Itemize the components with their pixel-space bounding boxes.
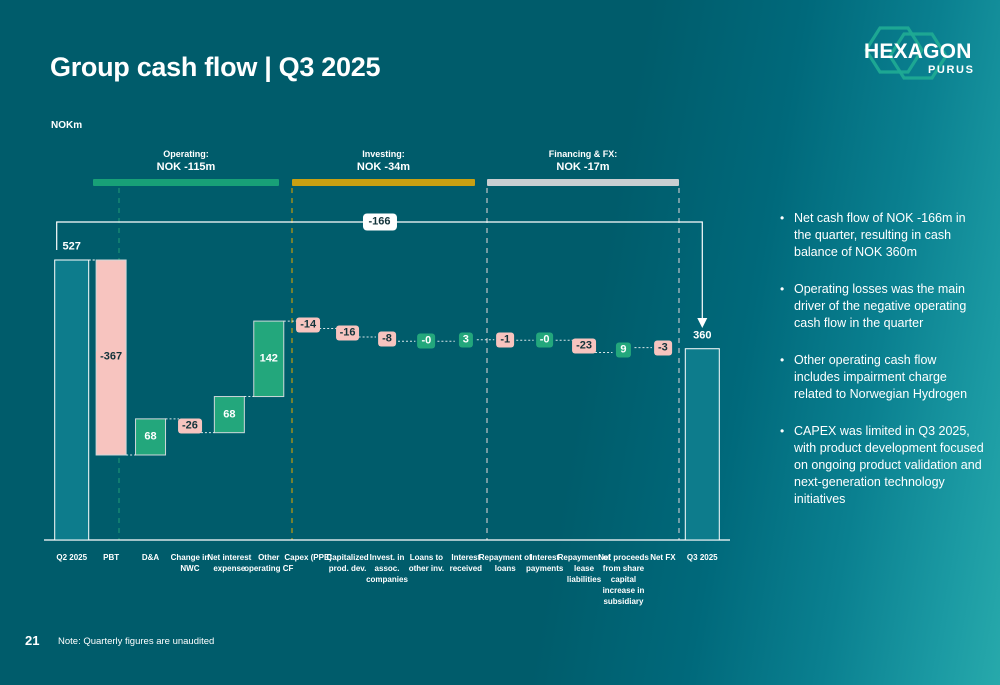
bar-value-label: -166 <box>362 214 396 231</box>
footnote: Note: Quarterly figures are unaudited <box>58 636 214 647</box>
logo-wordmark: HEXAGON <box>864 40 972 64</box>
bullet-dot-icon: • <box>780 423 794 508</box>
bar-value-label: 3 <box>459 333 473 348</box>
list-item: • Other operating cash flow includes imp… <box>780 352 985 403</box>
bullet-text: Net cash flow of NOK -166m in the quarte… <box>794 210 985 261</box>
bullet-dot-icon: • <box>780 281 794 332</box>
waterfall-chart: 527-36768-2668142-14-16-8-03-1-0-239-336… <box>0 0 760 610</box>
bar-value-label: 527 <box>59 240 85 255</box>
bar-value-label: -0 <box>418 334 436 349</box>
bar-value-label: -16 <box>336 325 360 340</box>
bullet-text: CAPEX was limited in Q3 2025, with produ… <box>794 423 985 508</box>
bar-value-label: 68 <box>219 407 239 422</box>
bar-value-label: -367 <box>96 350 126 365</box>
list-item: • Net cash flow of NOK -166m in the quar… <box>780 210 985 261</box>
bar-value-label: -8 <box>378 332 396 347</box>
bar-value-label: -0 <box>536 333 554 348</box>
bar-value-label: -26 <box>178 418 202 433</box>
bullet-text: Other operating cash flow includes impai… <box>794 352 985 403</box>
list-item: • Operating losses was the main driver o… <box>780 281 985 332</box>
bar-value-label: 360 <box>689 328 715 343</box>
bar-value-label: -1 <box>496 332 514 347</box>
slide-canvas: Group cash flow | Q3 2025 NOKm HEXAGON P… <box>0 0 1000 685</box>
bar-value-label: 9 <box>616 343 630 358</box>
bar-value-label: -23 <box>572 339 596 354</box>
hexagon-purus-logo: HEXAGON PURUS <box>842 24 982 86</box>
logo-subwordmark: PURUS <box>928 64 975 76</box>
bullet-dot-icon: • <box>780 352 794 403</box>
bar-value-label: -3 <box>654 341 672 356</box>
bar-value-label: 142 <box>256 351 282 366</box>
bar-value-label: -14 <box>296 317 320 332</box>
bullet-dot-icon: • <box>780 210 794 261</box>
bullet-text: Operating losses was the main driver of … <box>794 281 985 332</box>
page-number: 21 <box>25 633 39 648</box>
commentary-list: • Net cash flow of NOK -166m in the quar… <box>780 210 985 528</box>
list-item: • CAPEX was limited in Q3 2025, with pro… <box>780 423 985 508</box>
bar-value-label: 68 <box>140 429 160 444</box>
x-axis-label: Q3 2025 <box>675 552 730 563</box>
chart-svg-layer <box>0 0 760 610</box>
